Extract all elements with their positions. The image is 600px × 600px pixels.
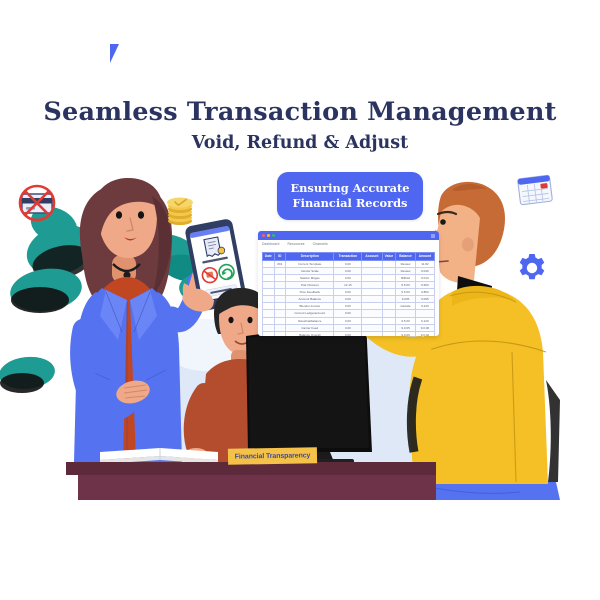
table-cell	[274, 317, 286, 324]
table-cell: Carrier Feed	[286, 324, 334, 331]
table-cell	[362, 274, 382, 281]
table-row[interactable]: Pair Channel12.159.5.009.500	[263, 282, 435, 289]
table-cell	[382, 331, 396, 336]
transactions-table: DateIDDescriptionTransactionAccountValue…	[262, 252, 435, 336]
table-cell: 9.5.00	[396, 289, 415, 296]
table-cell	[382, 282, 396, 289]
minimize-icon[interactable]	[267, 234, 270, 237]
table-cell	[274, 324, 286, 331]
table-cell: 9.0.02	[415, 331, 434, 336]
table-body: #01Current Template0.00Review11.82Vendor…	[263, 260, 435, 336]
coins-icon	[163, 190, 197, 226]
heading-block: Seamless Transaction Management Void, Re…	[0, 98, 600, 154]
table-cell	[382, 317, 396, 324]
table-column-header: ID	[274, 253, 286, 261]
table-cell	[362, 331, 382, 336]
table-cell: 12.15	[334, 282, 362, 289]
table-cell	[263, 317, 275, 324]
speech-line-2: Financial Records	[293, 196, 408, 211]
speech-bubble: Ensuring Accurate Financial Records	[277, 172, 423, 220]
table-cell	[362, 310, 382, 317]
table-cell	[362, 267, 382, 274]
table-cell: 0.00	[334, 303, 362, 310]
table-cell	[263, 310, 275, 317]
illustration-canvas: Dashboard Resources Channels DateIDDescr…	[0, 0, 600, 600]
calendar-icon	[513, 170, 557, 210]
table-cell: 0.00	[334, 296, 362, 303]
table-cell	[263, 324, 275, 331]
table-row[interactable]: Ranefinalbalance0.009.5.009.129	[263, 317, 435, 324]
table-cell	[274, 296, 286, 303]
table-cell: Blender Invoice	[286, 303, 334, 310]
table-cell	[382, 260, 396, 267]
speech-line-1: Ensuring Accurate	[290, 181, 409, 196]
table-row[interactable]: Pure Feedback0.009.5.009.860	[263, 289, 435, 296]
table-header-row: DateIDDescriptionTransactionAccountValue…	[263, 253, 435, 261]
desk-front-panel	[78, 475, 436, 500]
table-cell: 9.240	[415, 303, 434, 310]
table-row[interactable]: Vendor Scale0.00Review9.040	[263, 267, 435, 274]
table-row[interactable]: Current Ledgeraccount0.00	[263, 310, 435, 317]
table-cell: 9.0.06	[415, 324, 434, 331]
table-row[interactable]: Blender Invoice0.00Gazelle9.240	[263, 303, 435, 310]
table-cell	[382, 274, 396, 281]
table-cell: 9.095	[415, 296, 434, 303]
table-cell: 9.010	[415, 274, 434, 281]
maximize-icon[interactable]	[272, 234, 275, 237]
browser-menubar: Dashboard Resources Channels	[258, 240, 439, 250]
nameplate: Financial Transparency	[228, 447, 317, 465]
desk	[66, 462, 436, 500]
table-column-header: Account	[362, 253, 382, 261]
table-cell: 9.860	[415, 289, 434, 296]
table-cell	[362, 317, 382, 324]
table-column-header: Value	[382, 253, 396, 261]
table-row[interactable]: Account Balance0.009.0059.095	[263, 296, 435, 303]
table-cell	[382, 303, 396, 310]
table-cell: Billfold	[396, 274, 415, 281]
table-cell: #01	[274, 260, 286, 267]
page-title: Seamless Transaction Management	[0, 98, 600, 127]
table-cell: 9.129	[415, 317, 434, 324]
table-cell	[274, 282, 286, 289]
table-cell	[263, 260, 275, 267]
close-icon[interactable]	[262, 234, 265, 237]
menu-item-dashboard[interactable]: Dashboard	[262, 242, 280, 250]
table-header: DateIDDescriptionTransactionAccountValue…	[263, 253, 435, 261]
table-cell	[362, 260, 382, 267]
table-column-header: Balance	[396, 253, 415, 261]
table-column-header: Amount	[415, 253, 434, 261]
table-cell: 0.00	[334, 267, 362, 274]
speech-bubble-tail	[110, 44, 119, 63]
table-cell: Sektion Mitgas	[286, 274, 334, 281]
table-row[interactable]: #01Current Template0.00Review11.82	[263, 260, 435, 267]
void-card-icon	[14, 182, 60, 224]
table-cell: Gazelle	[396, 303, 415, 310]
table-cell	[382, 296, 396, 303]
table-cell	[263, 267, 275, 274]
table-cell	[382, 267, 396, 274]
table-cell: 9.040	[415, 267, 434, 274]
browser-titlebar	[258, 231, 439, 240]
table-cell: Current Template	[286, 260, 334, 267]
table-cell	[274, 267, 286, 274]
table-cell	[263, 274, 275, 281]
table-cell: 0.00	[334, 324, 362, 331]
table-column-header: Transaction	[334, 253, 362, 261]
table-cell: 0.00	[334, 331, 362, 336]
table-cell: 0.00	[334, 289, 362, 296]
table-cell	[274, 331, 286, 336]
table-cell	[362, 296, 382, 303]
table-column-header: Date	[263, 253, 275, 261]
table-cell	[274, 289, 286, 296]
table-cell	[263, 296, 275, 303]
table-cell: 9.5.00	[396, 317, 415, 324]
table-cell: 11.82	[415, 260, 434, 267]
table-cell: Account Balance	[286, 296, 334, 303]
table-cell	[362, 303, 382, 310]
menu-item-resources[interactable]: Resources	[288, 242, 305, 250]
window-menu-icon[interactable]	[431, 234, 435, 238]
table-cell: 0.00	[334, 310, 362, 317]
table-cell	[382, 324, 396, 331]
page-subtitle: Void, Refund & Adjust	[0, 133, 600, 154]
table-row[interactable]: Carrier Feed0.009.0.059.0.06	[263, 324, 435, 331]
table-cell	[274, 274, 286, 281]
table-cell	[362, 324, 382, 331]
table-cell	[362, 289, 382, 296]
table-cell: Ranefinalbalance	[286, 317, 334, 324]
nameplate-label: Financial Transparency	[235, 452, 311, 460]
table-row[interactable]: Balance Overall0.009.0.099.0.02	[263, 331, 435, 336]
desktop-monitor	[246, 320, 372, 464]
table-cell: Current Ledgeraccount	[286, 310, 334, 317]
table-cell: 9.005	[396, 296, 415, 303]
table-cell	[263, 282, 275, 289]
gear-icon	[516, 252, 548, 284]
spreadsheet-browser-window[interactable]: Dashboard Resources Channels DateIDDescr…	[258, 231, 439, 336]
table-column-header: Description	[286, 253, 334, 261]
table-cell	[274, 303, 286, 310]
table-cell: 0.00	[334, 260, 362, 267]
table-cell: Review	[396, 260, 415, 267]
table-cell	[415, 310, 434, 317]
table-cell: Vendor Scale	[286, 267, 334, 274]
table-cell	[382, 310, 396, 317]
table-cell: Review	[396, 267, 415, 274]
table-cell	[274, 310, 286, 317]
table-cell: Balance Overall	[286, 331, 334, 336]
table-cell: 0.00	[334, 317, 362, 324]
table-cell	[382, 289, 396, 296]
table-cell: 9.0.09	[396, 331, 415, 336]
table-cell	[396, 310, 415, 317]
table-cell: 0.00	[334, 274, 362, 281]
table-cell	[263, 289, 275, 296]
table-row[interactable]: Sektion Mitgas0.00Billfold9.010	[263, 274, 435, 281]
speech-bubble-text: Ensuring Accurate Financial Records	[277, 172, 423, 220]
table-cell: 9.5.00	[396, 282, 415, 289]
table-cell: 9.500	[415, 282, 434, 289]
table-cell: Pure Feedback	[286, 289, 334, 296]
table-cell	[263, 303, 275, 310]
table-cell	[362, 282, 382, 289]
table-cell: 9.0.05	[396, 324, 415, 331]
table-cell: Pair Channel	[286, 282, 334, 289]
table-cell	[263, 331, 275, 336]
menu-item-channels[interactable]: Channels	[313, 242, 328, 250]
